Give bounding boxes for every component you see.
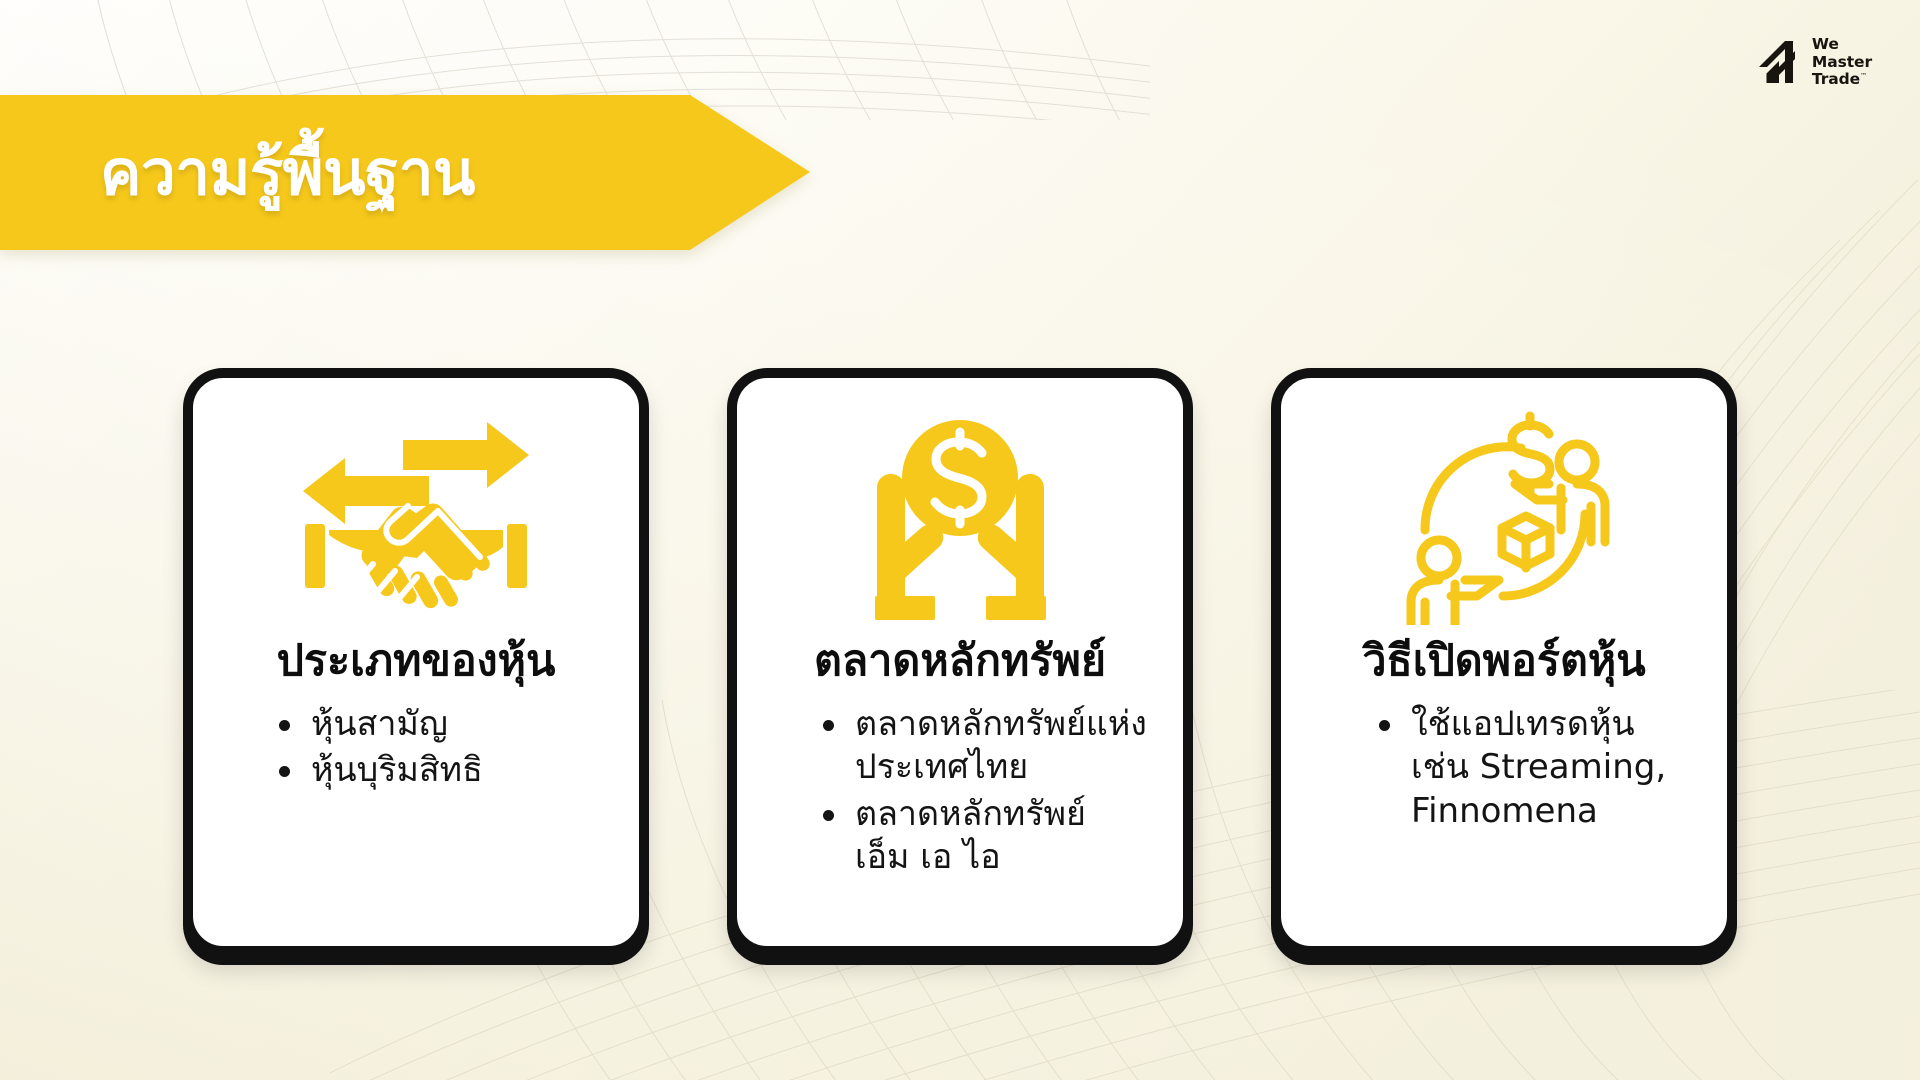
logo-line-3: Trade [1812, 70, 1860, 88]
handshake-exchange-icon [291, 402, 541, 632]
list-item: ใช้แอปเทรดหุ้น เช่น Streaming, Finnomena [1377, 703, 1695, 834]
people-trade-exchange-icon [1389, 402, 1619, 632]
list-item: ตลาดหลักทรัพย์แห่งประเทศไทย [821, 703, 1151, 790]
concept-card-row: ประเภทของหุ้น หุ้นสามัญ หุ้นบุริมสิทธิ [0, 368, 1920, 958]
card-bullet-list: ใช้แอปเทรดหุ้น เช่น Streaming, Finnomena [1307, 703, 1701, 837]
card-title: ตลาดหลักทรัพย์ [814, 636, 1106, 687]
card-open-portfolio[interactable]: วิธีเปิดพอร์ตหุ้น ใช้แอปเทรดหุ้น เช่น St… [1271, 368, 1737, 956]
logo-line-1: We [1812, 35, 1839, 53]
logo-trademark: ™ [1860, 72, 1867, 80]
card-bullet-list: หุ้นสามัญ หุ้นบุริมสิทธิ [219, 703, 613, 796]
logo-line-2: Master [1812, 53, 1872, 71]
brand-logo: We Master Trade™ [1755, 36, 1872, 89]
page-title: ความรู้พื้นฐาน [100, 142, 475, 204]
list-item: หุ้นสามัญ [277, 703, 607, 747]
page-title-banner: ความรู้พื้นฐาน [0, 95, 810, 250]
card-bullet-list: ตลาดหลักทรัพย์แห่งประเทศไทย ตลาดหลักทรัพ… [763, 703, 1157, 883]
list-item: หุ้นบุริมสิทธิ [277, 749, 607, 793]
card-title: วิธีเปิดพอร์ตหุ้น [1362, 636, 1645, 687]
card-stock-exchange[interactable]: ตลาดหลักทรัพย์ ตลาดหลักทรัพย์แห่งประเทศไ… [727, 368, 1193, 956]
list-item: ตลาดหลักทรัพย์ เอ็ม เอ ไอ [821, 793, 1151, 880]
wmt-arrow-chart-icon [1755, 37, 1801, 87]
card-stock-types[interactable]: ประเภทของหุ้น หุ้นสามัญ หุ้นบุริมสิทธิ [183, 368, 649, 956]
card-title: ประเภทของหุ้น [277, 636, 556, 687]
hands-holding-coin-icon [853, 402, 1068, 632]
logo-wordmark: We Master Trade™ [1812, 36, 1872, 89]
